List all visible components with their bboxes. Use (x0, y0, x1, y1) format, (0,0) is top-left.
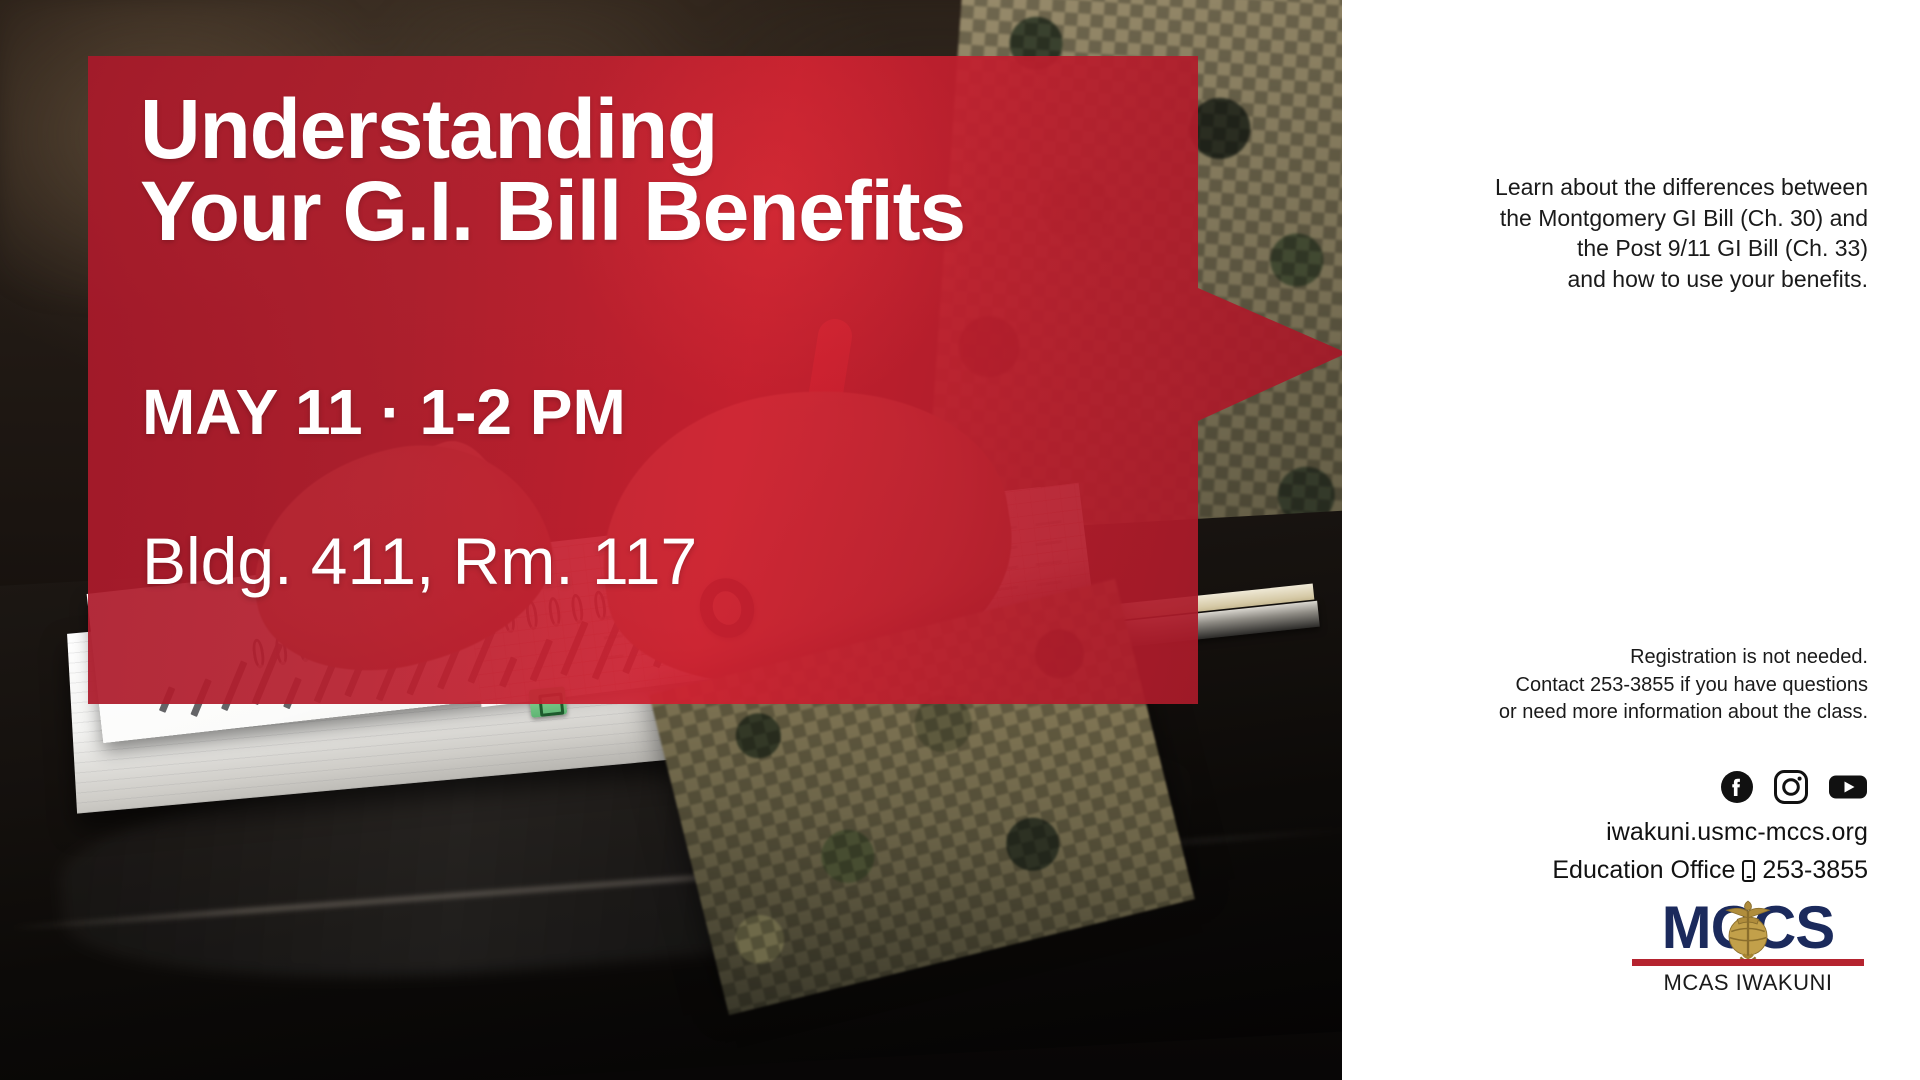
event-location: Bldg. 411, Rm. 117 (142, 528, 697, 594)
registration-line-2: Contact 253-3855 if you have questions (1448, 672, 1868, 700)
registration-line-1: Registration is not needed. (1448, 644, 1868, 672)
description-line-1: Learn about the differences between (1448, 172, 1868, 203)
event-date-time: MAY 11 · 1-2 PM (142, 380, 626, 444)
mobile-phone-icon (1742, 860, 1755, 882)
event-description: Learn about the differences between the … (1448, 172, 1868, 294)
social-media-links (1720, 770, 1868, 804)
description-line-3: the Post 9/11 GI Bill (Ch. 33) (1448, 233, 1868, 264)
office-phone-number[interactable]: 253-3855 (1762, 856, 1868, 885)
mccs-red-rule (1632, 959, 1864, 966)
mccs-installation-name: MCAS IWAKUNI (1628, 970, 1868, 996)
info-column: Learn about the differences between the … (1342, 0, 1920, 1080)
office-label: Education Office (1552, 856, 1735, 885)
flyer-poster: Understanding Your G.I. Bill Benefits MA… (0, 0, 1920, 1080)
page-title: Understanding Your G.I. Bill Benefits (140, 88, 1140, 253)
office-phone-line: Education Office 253-3855 (1438, 856, 1868, 885)
instagram-icon[interactable] (1774, 770, 1808, 804)
headline-line-1: Understanding (140, 88, 1140, 170)
description-line-4: and how to use your benefits. (1448, 264, 1868, 295)
eagle-globe-anchor-icon (1710, 892, 1786, 968)
website-url[interactable]: iwakuni.usmc-mccs.org (1438, 818, 1868, 847)
mccs-logo: MCCS MCAS IWAKUNI (1628, 898, 1868, 1002)
registration-note: Registration is not needed. Contact 253-… (1448, 644, 1868, 727)
headline-line-2: Your G.I. Bill Benefits (140, 170, 1140, 252)
facebook-icon[interactable] (1720, 770, 1754, 804)
registration-line-3: or need more information about the class… (1448, 699, 1868, 727)
youtube-icon[interactable] (1828, 770, 1868, 804)
description-line-2: the Montgomery GI Bill (Ch. 30) and (1448, 203, 1868, 234)
